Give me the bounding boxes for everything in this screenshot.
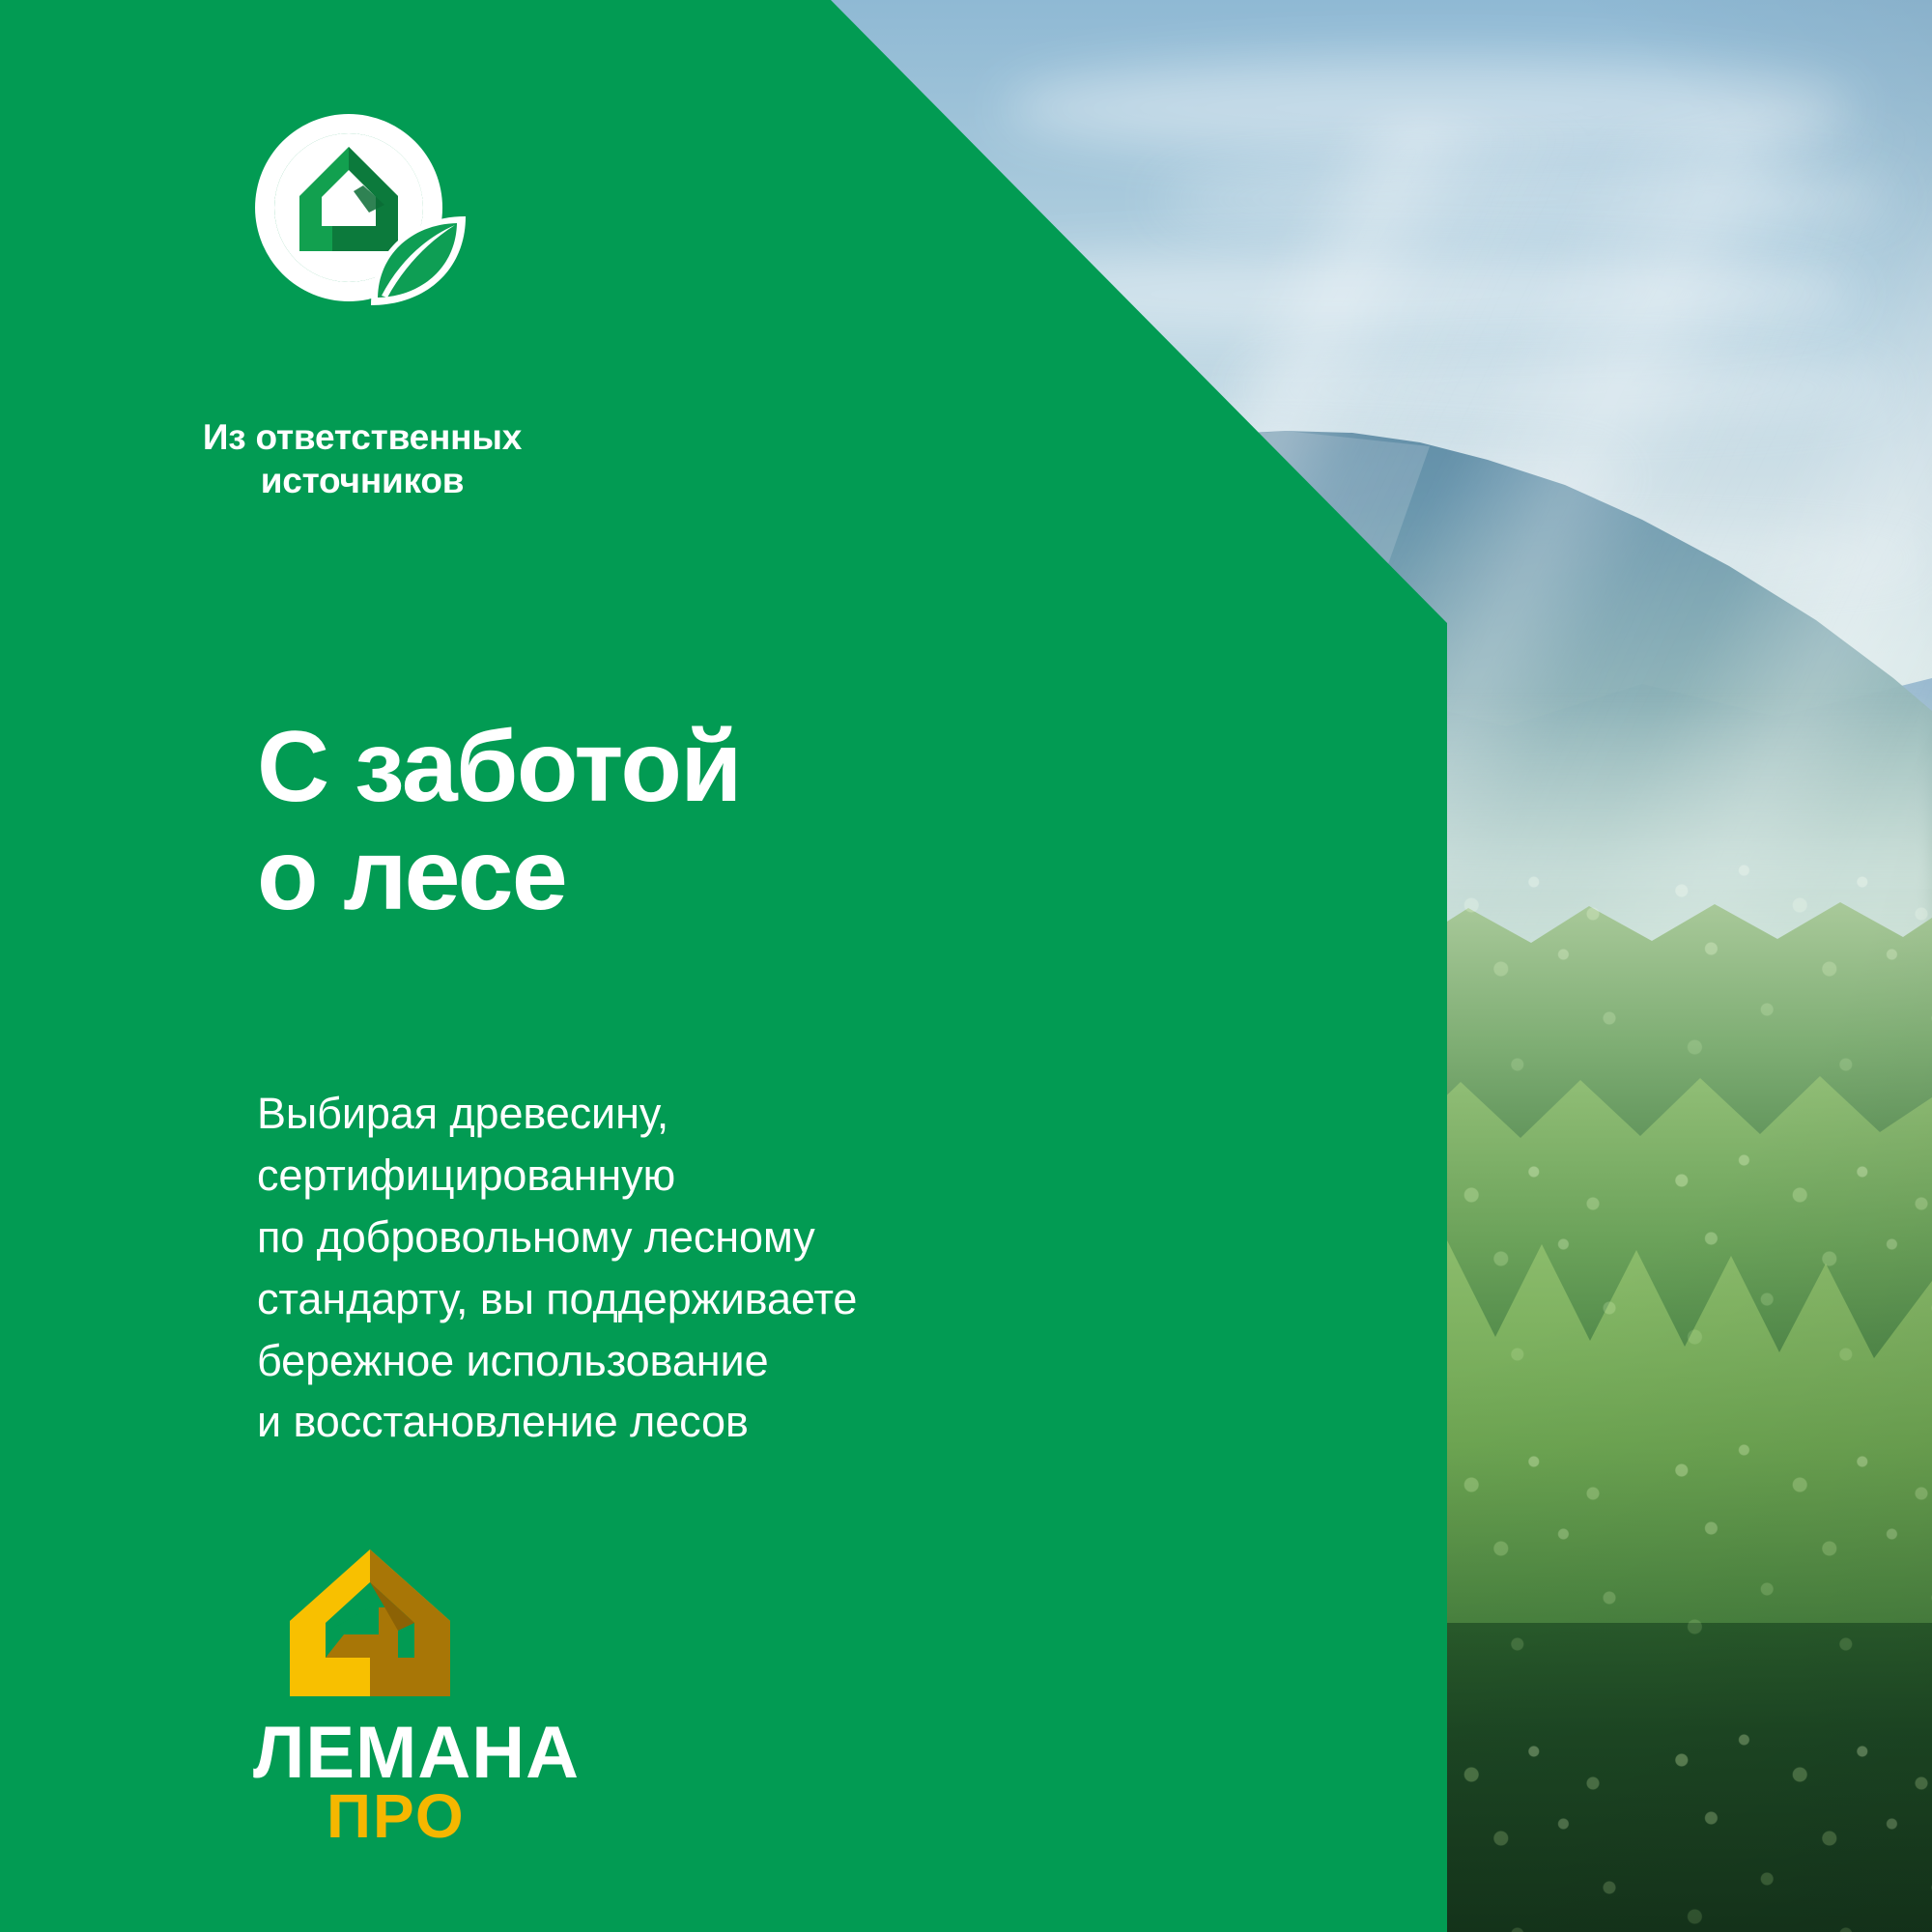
house-leaf-circle-icon — [249, 108, 469, 313]
brand-logo: ЛЕМАНА ПРО — [253, 1549, 639, 1841]
certification-caption-line-2: источников — [174, 459, 551, 502]
body-line-6: и восстановление лесов — [257, 1391, 857, 1453]
body-line-3: по добровольному лесному — [257, 1207, 857, 1268]
headline-line-2: о лесе — [257, 821, 741, 929]
brand-suffix-text: ПРО — [327, 1781, 466, 1841]
page-title: С заботой о лесе — [257, 713, 741, 930]
lemana-house-icon — [290, 1549, 450, 1696]
body-line-5: бережное использование — [257, 1330, 857, 1392]
certification-caption: Из ответственных источников — [174, 415, 551, 502]
certification-badge — [249, 108, 469, 313]
certification-caption-line-1: Из ответственных — [174, 415, 551, 459]
body-paragraph: Выбирая древесину, сертифицированную по … — [257, 1083, 857, 1453]
body-line-1: Выбирая древесину, — [257, 1083, 857, 1145]
body-line-2: сертифицированную — [257, 1145, 857, 1207]
lemana-pro-wordmark: ЛЕМАНА ПРО — [253, 1714, 601, 1841]
poster-canvas: Из ответственных источников С заботой о … — [0, 0, 1932, 1932]
body-line-4: стандарту, вы поддерживаете — [257, 1268, 857, 1330]
content-layer: Из ответственных источников С заботой о … — [0, 0, 1932, 1932]
headline-line-1: С заботой — [257, 713, 741, 821]
